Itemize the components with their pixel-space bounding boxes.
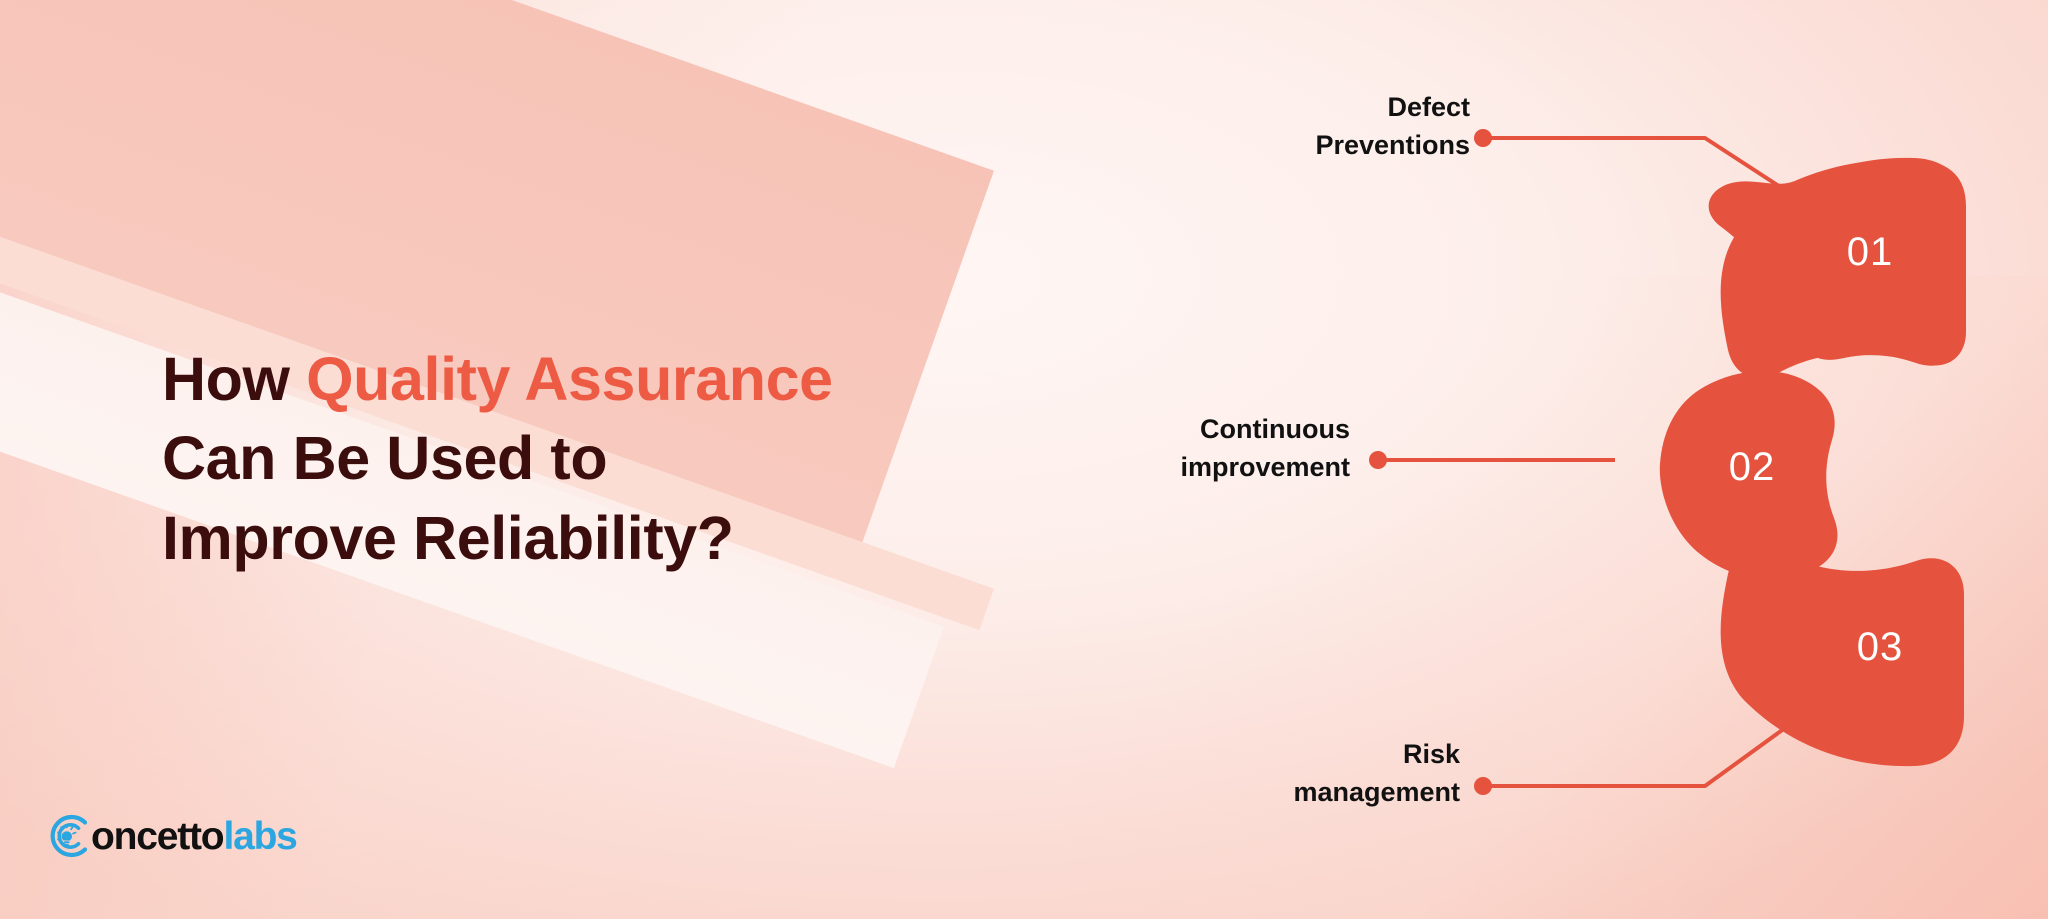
title-line-1: How Quality Assurance	[162, 340, 833, 419]
arc-segment-01[interactable]: 01	[1709, 158, 1966, 378]
brand-name-dark: oncetto	[91, 815, 223, 858]
connector-line-01	[1474, 129, 1785, 190]
callout-label-03-line-1: Risk	[1080, 735, 1460, 773]
arc-segment-03[interactable]: 03	[1721, 546, 1964, 766]
infographic-banner: How Quality Assurance Can Be Used to Imp…	[0, 0, 2048, 919]
callout-label-01: Defect Preventions	[1080, 88, 1470, 165]
connector-dot-01	[1474, 129, 1492, 147]
connector-line-03	[1474, 728, 1785, 795]
brand-logo-text: oncettolabs	[91, 817, 297, 856]
title-line-2: Can Be Used to	[162, 419, 833, 498]
brand-logo[interactable]: oncettolabs	[45, 812, 297, 860]
callout-label-03: Risk management	[1080, 735, 1460, 812]
connector-dot-03	[1474, 777, 1492, 795]
title-line-3: Improve Reliability?	[162, 499, 833, 578]
title-line-1-plain: How	[162, 345, 306, 413]
callout-label-03-line-2: management	[1080, 773, 1460, 811]
connector-line-02	[1369, 451, 1615, 469]
callout-label-02: Continuous improvement	[1020, 410, 1350, 487]
callout-label-01-line-1: Defect	[1080, 88, 1470, 126]
title-line-1-accent: Quality Assurance	[306, 345, 833, 413]
segment-number-03: 03	[1857, 625, 1904, 669]
connector-dot-02	[1369, 451, 1387, 469]
callout-label-02-line-2: improvement	[1020, 448, 1350, 486]
segment-number-01: 01	[1847, 230, 1894, 274]
concetto-c-lightbulb-icon	[45, 812, 93, 860]
callout-label-02-line-1: Continuous	[1020, 410, 1350, 448]
brand-name-blue: labs	[223, 815, 296, 858]
page-title: How Quality Assurance Can Be Used to Imp…	[162, 340, 833, 578]
callout-label-01-line-2: Preventions	[1080, 126, 1470, 164]
segment-number-02: 02	[1729, 445, 1776, 489]
